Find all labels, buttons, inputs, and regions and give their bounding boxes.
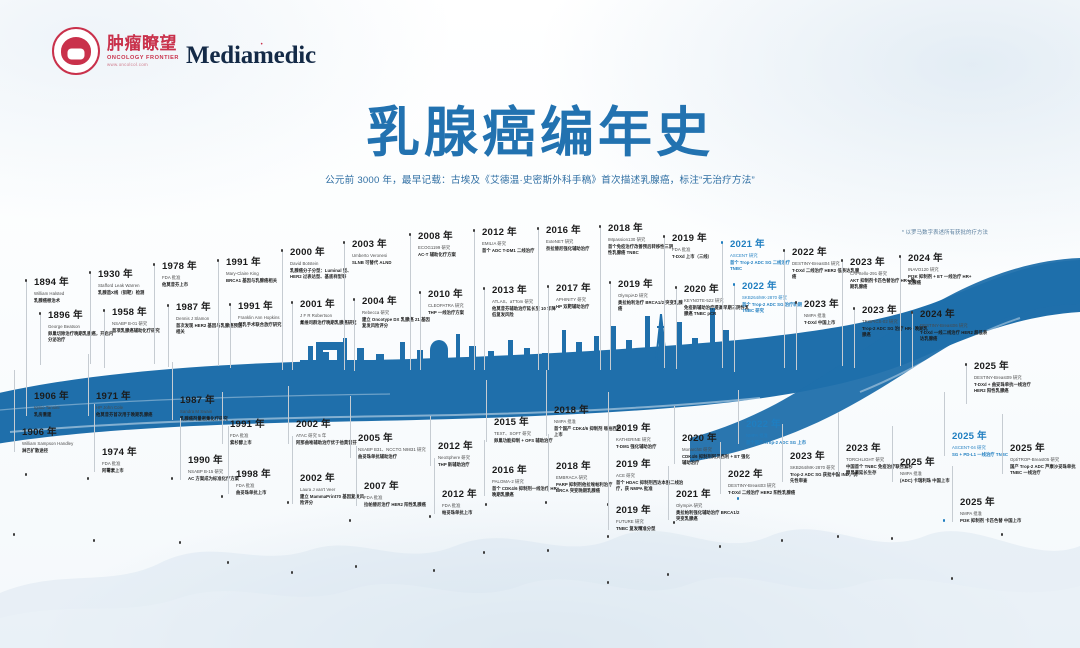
timeline-entry[interactable]: 2007 年FDA 批准拉帕替尼治疗 HER2 阳性乳腺癌 (364, 482, 432, 508)
timeline-stem (944, 392, 945, 456)
timeline-source: NMPA 批准 (554, 419, 622, 425)
timeline-year: 2018 年 (608, 224, 676, 235)
timeline-stem (784, 250, 785, 368)
timeline-marker-dot (291, 571, 294, 574)
timeline-stem (664, 236, 665, 368)
timeline-entry[interactable]: 1958 年NSABP B-01 研究首项乳腺癌辅助化疗研究 (112, 308, 180, 334)
timeline-entry[interactable]: 2025 年NMPA 批准(ADC) 卡瑞利珠 中国上市 (900, 458, 968, 484)
timeline-description: 乳腺癌根治术 (34, 298, 102, 304)
timeline-marker-dot (87, 477, 90, 480)
timeline-source: NeoSphere 研究 (438, 455, 506, 461)
timeline-stem (344, 242, 345, 370)
timeline-stem (410, 234, 411, 370)
oncology-frontier-logo[interactable]: 肿瘤瞭望 ONCOLOGY FRONTIER www.oncolcol.com (52, 27, 179, 75)
timeline-year: 1906 年 (22, 428, 90, 439)
timeline-entry[interactable]: 2016 年ExteNET 研究奈拉替尼强化辅助治疗 (546, 226, 614, 252)
timeline-year: 1998 年 (236, 470, 304, 481)
timeline-marker-dot (227, 561, 230, 564)
timeline-stem (738, 390, 739, 444)
timeline-entry[interactable]: 2013 年ATLAS、aTTom 研究他莫昔芬辅助治疗延长至 10 年降低复发… (492, 286, 560, 318)
timeline-source: MonarchE 研究 (682, 447, 750, 453)
timeline-marker-dot (783, 249, 786, 252)
timeline-stem (154, 264, 155, 364)
timeline-year: 2022 年 (728, 470, 796, 481)
timeline-stem (282, 250, 283, 370)
timeline-stem (674, 406, 675, 464)
timeline-marker-dot (719, 545, 722, 548)
timeline-description: HP 双靶辅助治疗 (556, 304, 624, 310)
timeline-marker-dot (429, 515, 432, 518)
timeline-stem (350, 396, 351, 458)
timeline-stem (230, 304, 231, 368)
header: 肿瘤瞭望 ONCOLOGY FRONTIER www.oncolcol.com … (0, 0, 1080, 96)
timeline-description: 首个 ADC T-DM1 二线治疗 (482, 248, 550, 254)
timeline-year: 2020 年 (682, 434, 750, 445)
timeline-description: (ADC) 卡瑞利珠 中国上市 (900, 478, 968, 484)
timeline-year: 2024 年 (920, 310, 988, 321)
timeline-stem (912, 312, 913, 368)
timeline-source: Dennis J Slamon (176, 316, 244, 322)
logo-oncology-url: www.oncolcol.com (107, 62, 179, 67)
timeline-description: 曲妥珠单抗上市 (236, 490, 304, 496)
timeline-year: 2008 年 (418, 232, 486, 243)
timeline-marker-dot (221, 495, 224, 498)
timeline-description: 建立 MammaPrint70 基因复发风险评分 (300, 494, 368, 506)
timeline-year: 2022 年 (742, 282, 810, 293)
timeline-source: William Halsted (34, 291, 102, 297)
timeline-year: 2025 年 (952, 432, 1020, 443)
timeline-source: ATLAS、aTTom 研究 (492, 299, 560, 305)
logo-oncology-en: ONCOLOGY FRONTIER (107, 55, 179, 61)
timeline-marker-dot (409, 233, 412, 236)
timeline-description: BRCA1 基因与乳腺癌相关 (226, 278, 294, 284)
timeline-marker-dot (663, 235, 666, 238)
timeline-description: 国产 Trop-2 ADC 芦康沙妥珠单抗 TNBC 一线治疗 (1010, 464, 1078, 476)
timeline-year: 1958 年 (112, 308, 180, 319)
timeline-year: 2002 年 (296, 420, 364, 431)
timeline-description: PI3K 抑制剂 + ET 一线治疗 HR+ 乳腺癌 (908, 274, 976, 286)
timeline-marker-dot (39, 312, 42, 315)
timeline-stem (668, 466, 669, 520)
timeline-year: 1991 年 (238, 302, 306, 313)
timeline-description: THP 一线治疗方案 (428, 310, 496, 316)
timeline-stem (228, 426, 229, 494)
timeline-year: 2025 年 (960, 498, 1028, 509)
timeline-year: 2019 年 (616, 506, 684, 517)
timeline-stem (94, 404, 95, 472)
timeline-stem (782, 424, 783, 482)
timeline-entry[interactable]: 2019 年ACE 研究首个 HDAC 抑制剂西达本胺二线治疗，获 NMPA 批… (616, 460, 684, 492)
timeline-stem (356, 446, 357, 506)
timeline-year: 2013 年 (492, 286, 560, 297)
timeline-description: PARP 抑制剂他拉唑帕利治疗 BRCA 突变晚期乳腺癌 (556, 482, 624, 494)
timeline-stem (548, 286, 549, 370)
timeline-year: 2017 年 (556, 284, 624, 295)
timeline-entry[interactable]: 1930 年Stafford Leak Warren乳腺造X线（钼靶）检测 (98, 270, 166, 296)
timeline-description: 卵巢切除治疗晚期乳腺癌，开启内分泌治疗 (48, 331, 116, 343)
timeline-entry[interactable]: 2018 年IMpassion130 研究首个免疫治疗改善预后转移性三阴性乳腺癌… (608, 224, 676, 256)
timeline-stem (608, 392, 609, 448)
timeline-description: 保乳手术联合放疗研究 (238, 322, 306, 328)
timeline-stem (538, 228, 539, 370)
timeline-stem (288, 386, 289, 444)
timeline-stem (608, 478, 609, 530)
timeline-year: 1930 年 (98, 270, 166, 281)
timeline-marker-dot (837, 535, 840, 538)
timeline-marker-dot (167, 304, 170, 307)
timeline-entry[interactable]: 1896 年George Beatson卵巢切除治疗晚期乳腺癌，开启内分泌治疗 (48, 311, 116, 343)
timeline-marker-dot (89, 271, 92, 274)
timeline-entry[interactable]: 2025 年DESTINY-Breast09 研究T-DXd + 曲妥珠单抗一线… (974, 362, 1042, 394)
timeline-stem (88, 354, 89, 416)
timeline-source: David Botstein (290, 261, 358, 267)
timeline-marker-dot (217, 259, 220, 262)
timeline-entry[interactable]: 2018 年NMPA 批准首个国产 CDK4/6 抑制剂 哌柏西利上市 (554, 406, 622, 438)
timeline-marker-dot (483, 551, 486, 554)
timeline-stem (292, 436, 293, 504)
timeline-year: 2025 年 (974, 362, 1042, 373)
timeline-marker-dot (353, 298, 356, 301)
page-title: 乳腺癌编年史 (0, 104, 1080, 162)
timeline-year: 1987 年 (176, 303, 244, 314)
timeline-marker-dot (291, 301, 294, 304)
timeline-year: 2012 年 (482, 228, 550, 239)
timeline-stem (434, 458, 435, 514)
timeline-description: 氟维司群治疗晚期乳腺癌研究 (300, 320, 368, 326)
timeline-entry[interactable]: 2001 年J F R Robertson氟维司群治疗晚期乳腺癌研究 (300, 300, 368, 326)
timeline-stem (722, 242, 723, 368)
timeline-marker-dot (737, 497, 740, 500)
timeline-source: J F R Robertson (300, 313, 368, 319)
timeline-description: AC-T 辅助化疗方案 (418, 252, 486, 258)
timeline-year: 1987 年 (180, 396, 248, 407)
timeline-source: ACE 研究 (616, 473, 684, 479)
timeline-year: 1990 年 (188, 456, 256, 467)
timeline-description: 奈拉替尼强化辅助治疗 (546, 246, 614, 252)
timeline-marker-dot (13, 533, 16, 536)
timeline-source: NMPA 批准 (746, 433, 814, 439)
timeline-source: Laura J van't Veer (300, 487, 368, 493)
timeline-year: 2021 年 (730, 240, 798, 251)
timeline-entry[interactable]: 2022 年SKB264/MK-2870 研究首个 Trop-2 ADC SG … (742, 282, 810, 314)
timeline-description: 首个 CDK4/6 抑制剂一线治疗 HR+ 晚期乳腺癌 (492, 486, 560, 498)
timeline-description: 阿那曲唑辅助治疗优于他莫昔芬 (296, 440, 364, 446)
timeline-stem (90, 272, 91, 364)
timeline-stem (892, 426, 893, 482)
timeline-description: 拉帕替尼治疗 HER2 阳性乳腺癌 (364, 502, 432, 508)
timeline-marker-dot (547, 549, 550, 552)
timeline-marker-dot (153, 263, 156, 266)
timeline-marker-dot (25, 473, 28, 476)
timeline-marker-dot (607, 535, 610, 538)
timeline-entry[interactable]: 1974 年FDA 批准阿霉素上市 (102, 448, 170, 474)
timeline-entry[interactable]: 2020 年MonarchE 研究CDK4/6 抑制剂阿贝西利 + ET 强化辅… (682, 434, 750, 466)
timeline-marker-dot (965, 363, 968, 366)
timeline-year: 2002 年 (300, 474, 368, 485)
page-subtitle: 公元前 3000 年，最早记载：古埃及《艾德温·史密斯外科手稿》首次描述乳腺癌，… (0, 172, 1080, 186)
timeline-marker-dot (853, 307, 856, 310)
timeline-description: 他莫昔芬首次用于晚期乳腺癌 (96, 412, 164, 418)
timeline-description: T-DXd + 曲妥珠单抗一线治疗 HER2 阳性乳腺癌 (974, 382, 1042, 394)
timeline-stem (172, 362, 173, 420)
timeline-year: 1971 年 (96, 392, 164, 403)
timeline-stem (600, 226, 601, 370)
timeline-marker-dot (951, 577, 954, 580)
timeline-marker-dot (721, 241, 724, 244)
timeline-stem (838, 412, 839, 474)
timeline-description: 首个 HDAC 抑制剂西达本胺二线治疗，获 NMPA 批准 (616, 480, 684, 492)
timeline-year: 2018 年 (554, 406, 622, 417)
timeline-source: PALOMA-2 研究 (492, 479, 560, 485)
timeline-year: 2016 年 (546, 226, 614, 237)
timeline-stem (720, 442, 721, 494)
mediamedic-logo[interactable]: Media·medic (186, 42, 316, 70)
timeline-entry[interactable]: 1987 年Sandra M Swain乳腺癌剂量密集化疗研究 (180, 396, 248, 422)
timeline-entry[interactable]: 2022 年NMPA 批准首个国产 Trop-2 ADC SG 上市 (746, 420, 814, 446)
timeline-description: 阿霉素上市 (102, 468, 170, 474)
timeline-marker-dot (545, 501, 548, 504)
timeline-entry[interactable]: 2002 年Laura J van't Veer建立 MammaPrint70 … (300, 474, 368, 506)
timeline-entry[interactable]: 2019 年FUTURE 研究TNBC 复发精准分型 (616, 506, 684, 532)
timeline-marker-dot (911, 311, 914, 314)
timeline-marker-dot (675, 286, 678, 289)
timeline-marker-dot (1001, 533, 1004, 536)
timeline-entry[interactable]: 2012 年NeoSphere 研究THP 新辅助治疗 (438, 442, 506, 468)
timeline-stem (222, 392, 223, 444)
timeline-marker-dot (229, 303, 232, 306)
timeline-marker-dot (179, 541, 182, 544)
timeline-entry[interactable]: 2005 年NSABP B31、NCCTG N9831 研究曲妥珠单抗辅助治疗 (358, 434, 426, 460)
timeline-marker-dot (349, 519, 352, 522)
timeline-description: 首个 Trop-2 ADC SG 治疗晚期 TNBC 研究 (742, 302, 810, 314)
timeline-description: 曲妥珠单抗辅助治疗 (358, 454, 426, 460)
timeline-description: 首个国产 CDK4/6 抑制剂 哌柏西利上市 (554, 426, 622, 438)
timeline-source: FDA 批准 (364, 495, 432, 501)
timeline-year: 2001 年 (300, 300, 368, 311)
timeline-entry[interactable]: 1987 年Dennis J Slamon首次发现 HER2 基因与乳腺癌预后相… (176, 303, 244, 335)
timeline-marker-dot (355, 565, 358, 568)
timeline-stem (104, 310, 105, 368)
timeline-stem (218, 260, 219, 366)
timeline-source: Stafford Leak Warren (98, 283, 166, 289)
timeline-marker-dot (473, 229, 476, 232)
logo-media-text: Media (186, 42, 253, 69)
timeline-source: EMILIA 研究 (482, 241, 550, 247)
timeline-stem (168, 305, 169, 367)
timeline-stem (548, 434, 549, 492)
timeline-marker-dot (281, 249, 284, 252)
timeline-marker-dot (607, 581, 610, 584)
timeline-stem (484, 288, 485, 370)
timeline-stem (292, 302, 293, 370)
timeline-description: CDK4/6 抑制剂阿贝西利 + ET 强化辅助治疗 (682, 454, 750, 466)
timeline-source: Franklin Ann Hopkins (238, 315, 306, 321)
timeline-description: 首次发现 HER2 基因与乳腺癌预后相关 (176, 323, 244, 335)
timeline-marker-dot (943, 519, 946, 522)
timeline-entry[interactable]: 2002 年ATAC 研究 5 年阿那曲唑辅助治疗优于他莫昔芬 (296, 420, 364, 446)
timeline-marker-dot (93, 539, 96, 542)
timeline-source: NSABP B-01 研究 (112, 321, 180, 327)
timeline-year: 2000 年 (290, 248, 358, 259)
timeline-source: Mary-Claire King (226, 271, 294, 277)
timeline-stem (26, 280, 27, 358)
timeline-stem (842, 260, 843, 366)
timeline-stem (610, 282, 611, 370)
timeline-entry[interactable]: 2024 年DESTINY-Breast06 研究T-DXd 一线二线治疗 HE… (920, 310, 988, 342)
timeline-stem (26, 358, 27, 416)
timeline-description: 帕妥珠单抗上市 (442, 510, 510, 516)
timeline-marker-dot (547, 285, 550, 288)
timeline-entry[interactable]: 2021 年ASCENT 研究首个 Trop-2 ADC SG 二线治疗 TNB… (730, 240, 798, 272)
timeline-entry[interactable]: 1991 年Franklin Ann Hopkins保乳手术联合放疗研究 (238, 302, 306, 328)
timeline-entry[interactable]: 1978 年FDA 批准他莫昔芬上市 (162, 262, 230, 288)
timeline-entry[interactable]: 2022 年DESTINY-Breast03 研究T-DXd 二线治疗 HER2… (728, 470, 796, 496)
logo-oncology-cn: 肿瘤瞭望 (107, 35, 179, 53)
timeline-year: 2007 年 (364, 482, 432, 493)
timeline-entry[interactable]: 2025 年NMPA 批准PI3K 抑制剂 卡匹色替 中国上市 (960, 498, 1028, 524)
timeline-marker-dot (609, 281, 612, 284)
timeline-stem (430, 416, 431, 466)
timeline-entry[interactable]: 2000 年David Botstein乳腺癌分子分型：Luminal 型、HE… (290, 248, 358, 280)
timeline-source: ECOG1199 研究 (418, 245, 486, 251)
timeline-year: 1896 年 (48, 311, 116, 322)
timeline-source: NSABP B31、NCCTG N9831 研究 (358, 447, 426, 453)
timeline-source: IMpassion130 研究 (608, 237, 676, 243)
timeline-entry[interactable]: 2016 年PALOMA-2 研究首个 CDK4/6 抑制剂一线治疗 HR+ 晚… (492, 466, 560, 498)
timeline-marker-dot (599, 225, 602, 228)
crab-logo-icon (52, 27, 100, 75)
timeline-stem (966, 364, 967, 404)
timeline-source: ASCENT 研究 (730, 253, 798, 259)
timeline-marker-dot (433, 569, 436, 572)
timeline-stem (854, 308, 855, 368)
timeline-entry[interactable]: 2008 年ECOG1199 研究AC-T 辅助化疗方案 (418, 232, 486, 258)
timeline-entry[interactable]: 2015 年TEXT、SOFT 研究卵巢功能抑制 + OFS 辅助治疗 (494, 418, 562, 444)
timeline-entry[interactable]: 2017 年APHINITY 研究HP 双靶辅助治疗 (556, 284, 624, 310)
timeline-entry[interactable]: 2025 年OptiTROP-Breast05 研究国产 Trop-2 ADC … (1010, 444, 1078, 476)
timeline-year: 2010 年 (428, 290, 496, 301)
timeline-stem (486, 380, 487, 442)
timeline-source: FDA 批准 (236, 483, 304, 489)
timeline-description: TNBC 复发精准分型 (616, 526, 684, 532)
timeline-source: DESTINY-Breast06 研究 (920, 323, 988, 329)
timeline-source: ATAC 研究 5 年 (296, 433, 364, 439)
timeline-entry[interactable]: 1894 年William Halsted乳腺癌根治术 (34, 278, 102, 304)
timeline-stem (900, 256, 901, 366)
timeline-source: NMPA 批准 (900, 471, 968, 477)
timeline-description: 首个免疫治疗改善预后转移性三阴性乳腺癌 TNBC (608, 244, 676, 256)
timeline-marker-dot (781, 539, 784, 542)
timeline-entry[interactable]: 1991 年Mary-Claire KingBRCA1 基因与乳腺癌相关 (226, 258, 294, 284)
timeline-description: 乳腺造X线（钼靶）检测 (98, 290, 166, 296)
timeline-marker-dot (419, 291, 422, 294)
timeline-year: 1894 年 (34, 278, 102, 289)
timeline-marker-dot (899, 255, 902, 258)
timeline-marker-dot (103, 309, 106, 312)
timeline-description: 乳房重建 (34, 412, 102, 418)
timeline-marker-dot (343, 241, 346, 244)
timeline-description: 淋巴扩散途径 (22, 448, 90, 454)
timeline-entry[interactable]: 1998 年FDA 批准曲妥珠单抗上市 (236, 470, 304, 496)
timeline-stem (40, 313, 41, 365)
timeline-description: 首项乳腺癌辅助化疗研究 (112, 328, 180, 334)
timeline-year: 2025 年 (900, 458, 968, 469)
timeline-entry[interactable]: 1906 年Iginio Tansini乳房重建 (34, 392, 102, 418)
timeline-source: EMBRACA 研究 (556, 475, 624, 481)
timeline-marker-dot (667, 573, 670, 576)
timeline-marker-dot (795, 301, 798, 304)
timeline-source: TEXT、SOFT 研究 (494, 431, 562, 437)
timeline-source: NMPA 批准 (960, 511, 1028, 517)
timeline-year: 2024 年 (908, 254, 976, 265)
timeline-description: T-DXd 一线二线治疗 HER2 超低表达乳腺癌 (920, 330, 988, 342)
timeline-stem (420, 292, 421, 370)
timeline-description: 首个 Trop-2 ADC SG 二线治疗 TNBC (730, 260, 798, 272)
timeline-marker-dot (841, 259, 844, 262)
timeline-source: DESTINY-Breast09 研究 (974, 375, 1042, 381)
timeline-year: 2005 年 (358, 434, 426, 445)
timeline-description: 卵巢功能抑制 + OFS 辅助治疗 (494, 438, 562, 444)
timeline-year: 2015 年 (494, 418, 562, 429)
timeline-stem (14, 370, 15, 452)
timeline-description: 首个国产 Trop-2 ADC SG 上市 (746, 440, 814, 446)
timeline-stem (796, 302, 797, 370)
timeline-marker-dot (485, 503, 488, 506)
timeline-entry[interactable]: 2012 年EMILIA 研究首个 ADC T-DM1 二线治疗 (482, 228, 550, 254)
timeline-marker-dot (673, 521, 676, 524)
timeline-source: INAVO120 研究 (908, 267, 976, 273)
timeline-entry[interactable]: 2024 年INAVO120 研究PI3K 抑制剂 + ET 一线治疗 HR+ … (908, 254, 976, 286)
timeline-source: ExteNET 研究 (546, 239, 614, 245)
timeline-year: 2023 年 (846, 444, 914, 455)
timeline-stem (734, 284, 735, 372)
timeline-marker-dot (287, 501, 290, 504)
timeline-year: 1991 年 (226, 258, 294, 269)
timeline-stem (952, 466, 953, 522)
timeline-stem (484, 440, 485, 496)
timeline-source: APHINITY 研究 (556, 297, 624, 303)
timeline-stem (354, 299, 355, 371)
timeline-source: CLEOPATRA 研究 (428, 303, 496, 309)
timeline-stem (1002, 414, 1003, 474)
timeline-stem (676, 287, 677, 369)
timeline-description: T-DXd 二线治疗 HER2 阳性乳腺癌 (728, 490, 796, 496)
timeline-source: SKB264/MK-2870 研究 (742, 295, 810, 301)
timeline-description: 他莫昔芬上市 (162, 282, 230, 288)
timeline-source: FDA 批准 (162, 275, 230, 281)
timeline-marker-dot (483, 287, 486, 290)
timeline-year: 2016 年 (492, 466, 560, 477)
timeline-year: 2018 年 (556, 462, 624, 473)
timeline-entry[interactable]: 2018 年EMBRACA 研究PARP 抑制剂他拉唑帕利治疗 BRCA 突变晚… (556, 462, 624, 494)
timeline-marker-dot (171, 477, 174, 480)
timeline-entry[interactable]: 1971 年HP John Cole他莫昔芬首次用于晚期乳腺癌 (96, 392, 164, 418)
timeline-source: FDA 批准 (442, 503, 510, 509)
timeline-source: FDA 批准 (102, 461, 170, 467)
timeline-source: HP John Cole (96, 405, 164, 411)
timeline-source: OptiTROP-Breast05 研究 (1010, 457, 1078, 463)
timeline-source: William Sampson Handley (22, 441, 90, 447)
timeline-source: DESTINY-Breast03 研究 (728, 483, 796, 489)
timeline-description: PI3K 抑制剂 卡匹色替 中国上市 (960, 518, 1028, 524)
timeline-entry[interactable]: 2010 年CLEOPATRA 研究THP 一线治疗方案 (428, 290, 496, 316)
timeline-description: 奥拉帕利强化辅助治疗 BRCA1/2 突变乳腺癌 (676, 510, 744, 522)
timeline-marker-dot (25, 279, 28, 282)
timeline-entry[interactable]: 1906 年William Sampson Handley淋巴扩散途径 (22, 428, 90, 454)
timeline-marker-dot (891, 537, 894, 540)
timeline-year: 1978 年 (162, 262, 230, 273)
timeline-description: 他莫昔芬辅助治疗延长至 10 年降低复发风险 (492, 306, 560, 318)
